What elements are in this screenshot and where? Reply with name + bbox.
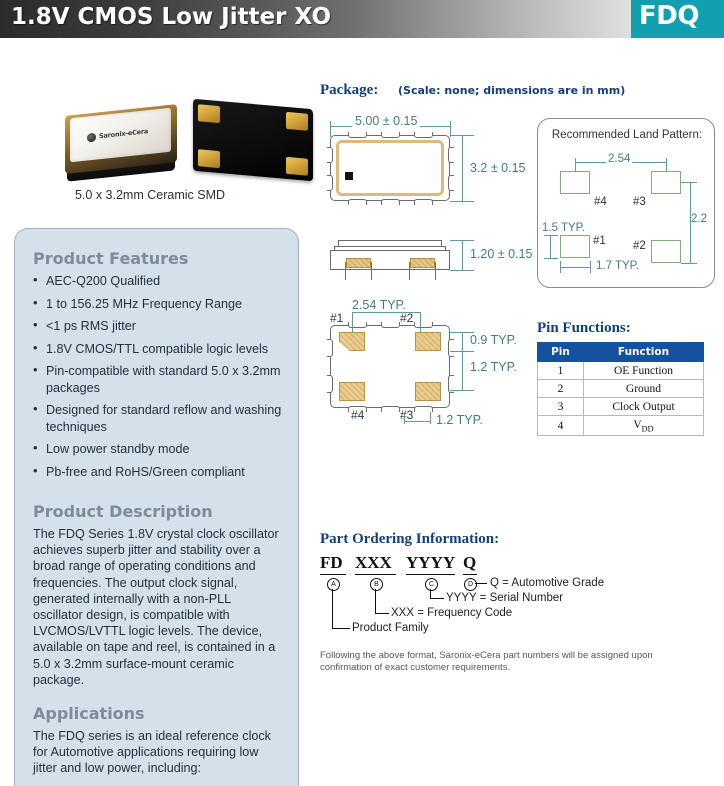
land-dim-padh-text: 1.5 TYP. xyxy=(542,222,585,234)
land-dim-padh-top xyxy=(544,235,558,236)
land-label-2: #2 xyxy=(633,240,646,252)
dim-pad-w-l xyxy=(404,412,405,424)
order-underline-c xyxy=(406,574,455,575)
land-dim-vert-top xyxy=(681,182,697,183)
part-ordering-diagram: FD XXX YYYY Q A B C D Q = Automotive Gra… xyxy=(320,553,715,633)
land-label-4: #4 xyxy=(594,196,607,208)
land-pattern-title: Recommended Land Pattern: xyxy=(538,129,716,141)
land-pad-3 xyxy=(651,171,681,194)
package-section-title: Package: xyxy=(320,82,378,99)
land-dim-vert-bot xyxy=(681,263,697,264)
product-description-text: The FDQ Series 1.8V crystal clock oscill… xyxy=(33,526,282,688)
table-row: 3 Clock Output xyxy=(538,398,704,416)
notch-top-mid xyxy=(381,132,400,138)
dim-line-height xyxy=(462,240,463,271)
order-marker-d: D xyxy=(464,578,477,591)
notch-bottom-left xyxy=(348,199,367,205)
land-dim-padh-line xyxy=(550,235,551,258)
order-legend-c: YYYY = Serial Number xyxy=(446,592,563,604)
product-description-heading: Product Description xyxy=(33,502,282,521)
leader-a-v xyxy=(332,589,333,629)
cell-function: Clock Output xyxy=(584,398,704,416)
land-dim-padw-text: 1.7 TYP. xyxy=(596,260,639,272)
land-dim-vert-text: 2.2 xyxy=(691,213,707,225)
part-ordering-note: Following the above format, Saronix-eCer… xyxy=(320,650,660,674)
dim-pitch-text: 2.54 TYP. xyxy=(352,298,406,312)
applications-intro: The FDQ series is an ideal reference clo… xyxy=(33,728,282,777)
bottom-pad-2 xyxy=(415,332,441,351)
notch-right-top xyxy=(448,147,454,163)
leader-a-h xyxy=(332,628,350,629)
land-dim-pitch-r xyxy=(666,158,667,172)
land-dim-padw-l xyxy=(560,261,561,273)
pin1-index-mark xyxy=(345,172,353,180)
notch-top-right xyxy=(414,132,433,138)
land-dim-pitch-text: 2.54 xyxy=(606,153,632,165)
order-underline-b xyxy=(355,574,396,575)
list-item: 1 to 156.25 MHz Frequency Range xyxy=(33,296,282,313)
order-underline-d xyxy=(463,574,477,575)
product-features-list: AEC-Q200 Qualified 1 to 156.25 MHz Frequ… xyxy=(33,273,282,480)
dim-ext-h-bot xyxy=(450,270,474,271)
side-sep-2 xyxy=(371,262,372,280)
pin-label-3: #3 xyxy=(400,408,413,422)
list-item: Low power standby mode xyxy=(33,441,282,458)
order-code-part-a: FD xyxy=(320,553,343,573)
bnotch-bot-right xyxy=(414,406,433,412)
dim-line-pitch xyxy=(352,312,420,313)
page-title: 1.8V CMOS Low Jitter XO xyxy=(11,4,331,30)
bnotch-bot-mid xyxy=(381,406,400,412)
bnotch-right-top xyxy=(448,339,454,357)
package-seal-ring xyxy=(336,140,444,196)
dim-pitch-ext-r xyxy=(420,312,421,332)
dim-line-pad-h1 xyxy=(462,332,463,351)
land-dim-pitch-l xyxy=(575,158,576,172)
list-item: <1 ps RMS jitter xyxy=(33,318,282,335)
package-photo-top-view: Saronix-eCera xyxy=(65,104,177,188)
cell-function: Ground xyxy=(584,380,704,398)
photo-pad-3 xyxy=(286,157,308,176)
bnotch-top-right xyxy=(414,322,433,328)
side-base xyxy=(330,250,450,270)
dim-line-width xyxy=(462,135,463,201)
land-dim-padw-line xyxy=(560,267,590,268)
dim-pad-w-r xyxy=(430,412,431,424)
bnotch-top-mid xyxy=(381,322,400,328)
table-header-row: Pin Function xyxy=(538,343,704,362)
notch-bottom-right xyxy=(414,199,433,205)
table-row: 2 Ground xyxy=(538,380,704,398)
order-marker-a: A xyxy=(327,578,340,591)
bottom-pad-3 xyxy=(415,382,441,401)
dim-ext-bot xyxy=(450,201,474,202)
dim-ext-top xyxy=(450,135,474,136)
cell-function: OE Function xyxy=(584,362,704,380)
order-code-part-c: YYYY xyxy=(406,553,455,573)
package-top-view-drawing xyxy=(330,135,450,201)
dim-line-pad-w xyxy=(404,421,430,422)
side-sep-4 xyxy=(435,262,436,280)
land-pad-4 xyxy=(560,171,590,194)
column-header-function: Function xyxy=(584,343,704,362)
cell-function-vdd: VDD xyxy=(584,416,704,436)
page-header: 1.8V CMOS Low Jitter XO FDQ xyxy=(0,0,724,38)
side-pad-right xyxy=(410,258,435,268)
list-item: Pb-free and RoHS/Green compliant xyxy=(33,464,282,481)
order-marker-b: B xyxy=(370,578,383,591)
order-legend-d: Q = Automotive Grade xyxy=(490,577,604,589)
pin-label-1: #1 xyxy=(330,311,343,325)
notch-top-left xyxy=(348,132,367,138)
dim-ext-h-top xyxy=(450,240,474,241)
dim-pad-h2-text: 1.2 TYP. xyxy=(470,360,517,374)
leader-c-h xyxy=(430,598,444,599)
list-item: AEC-Q200 Qualified xyxy=(33,273,282,290)
brand-logo-block: FDQ xyxy=(631,0,724,38)
land-pattern-panel: Recommended Land Pattern: #4 #3 #1 #2 2.… xyxy=(537,118,715,288)
dim-pad-h1-text: 0.9 TYP. xyxy=(470,333,517,347)
photo-caption: 5.0 x 3.2mm Ceramic SMD xyxy=(0,188,300,202)
package-side-view-drawing xyxy=(330,240,450,274)
land-dim-padw-r xyxy=(590,261,591,273)
order-code-part-b: XXX xyxy=(355,553,392,573)
dim-length-text: 5.00 ± 0.15 xyxy=(352,114,420,128)
order-legend-a: Product Family xyxy=(352,622,429,634)
bnotch-left-bot xyxy=(327,375,333,393)
column-header-pin: Pin xyxy=(538,343,584,362)
leader-b-v xyxy=(375,589,376,614)
part-ordering-title: Part Ordering Information: xyxy=(320,531,499,548)
package-bottom-view-drawing xyxy=(330,325,450,408)
bottom-pad-4 xyxy=(339,382,365,401)
dim-pad-h2-bot xyxy=(450,390,474,391)
pin-functions-title: Pin Functions: xyxy=(537,320,631,337)
land-label-3: #3 xyxy=(633,196,646,208)
table-row: 1 OE Function xyxy=(538,362,704,380)
cell-pin: 1 xyxy=(538,362,584,380)
brand-logo-text: FDQ xyxy=(639,1,699,31)
saronix-logo-icon xyxy=(87,132,96,142)
dim-width-text: 3.2 ± 0.15 xyxy=(470,161,526,175)
dim-ext-left xyxy=(330,121,331,137)
photo-pad-2 xyxy=(286,112,308,131)
land-dim-padh-bot xyxy=(544,258,558,259)
pin-label-4: #4 xyxy=(351,408,364,422)
package-section-subtitle: (Scale: none; dimensions are in mm) xyxy=(398,84,625,97)
land-pad-1 xyxy=(560,235,590,258)
applications-heading: Applications xyxy=(33,704,282,723)
dim-line-pad-h2 xyxy=(462,351,463,390)
cell-pin: 4 xyxy=(538,416,584,436)
land-label-1: #1 xyxy=(593,235,606,247)
dim-height-text: 1.20 ± 0.15 xyxy=(470,247,532,261)
dim-pad-w-text: 1.2 TYP. xyxy=(436,413,483,427)
package-body: Saronix-eCera xyxy=(65,104,177,174)
package-underside xyxy=(193,99,313,181)
leader-d xyxy=(475,583,487,584)
cell-pin: 2 xyxy=(538,380,584,398)
table-row: 4 VDD xyxy=(538,416,704,436)
order-underline-a xyxy=(320,574,346,575)
pin-label-2: #2 xyxy=(400,311,413,325)
order-marker-c: C xyxy=(425,578,438,591)
pin-functions-table: Pin Function 1 OE Function 2 Ground 3 Cl… xyxy=(537,342,704,436)
order-legend-b: XXX = Frequency Code xyxy=(391,607,512,619)
notch-left-top xyxy=(327,147,333,163)
notch-bottom-mid xyxy=(381,199,400,205)
left-info-panel: Product Features AEC-Q200 Qualified 1 to… xyxy=(14,228,299,786)
package-photo-bottom-view xyxy=(193,99,313,193)
bnotch-left-top xyxy=(327,339,333,357)
photo-pad-4 xyxy=(198,149,220,168)
land-pad-2 xyxy=(651,240,681,263)
photo-pad-1 xyxy=(198,104,220,123)
notch-left-bottom xyxy=(327,175,333,191)
side-pad-left xyxy=(346,258,371,268)
list-item: Designed for standard reflow and washing… xyxy=(33,402,282,435)
dim-pitch-ext-l xyxy=(352,312,353,332)
list-item: 1.8V CMOS/TTL compatible logic levels xyxy=(33,341,282,358)
leader-b-h xyxy=(375,613,389,614)
notch-right-bottom xyxy=(448,175,454,191)
bnotch-top-left xyxy=(348,322,367,328)
cell-pin: 3 xyxy=(538,398,584,416)
list-item: Pin-compatible with standard 5.0 x 3.2mm… xyxy=(33,363,282,396)
product-features-heading: Product Features xyxy=(33,249,282,268)
order-code-part-d: Q xyxy=(463,553,476,573)
